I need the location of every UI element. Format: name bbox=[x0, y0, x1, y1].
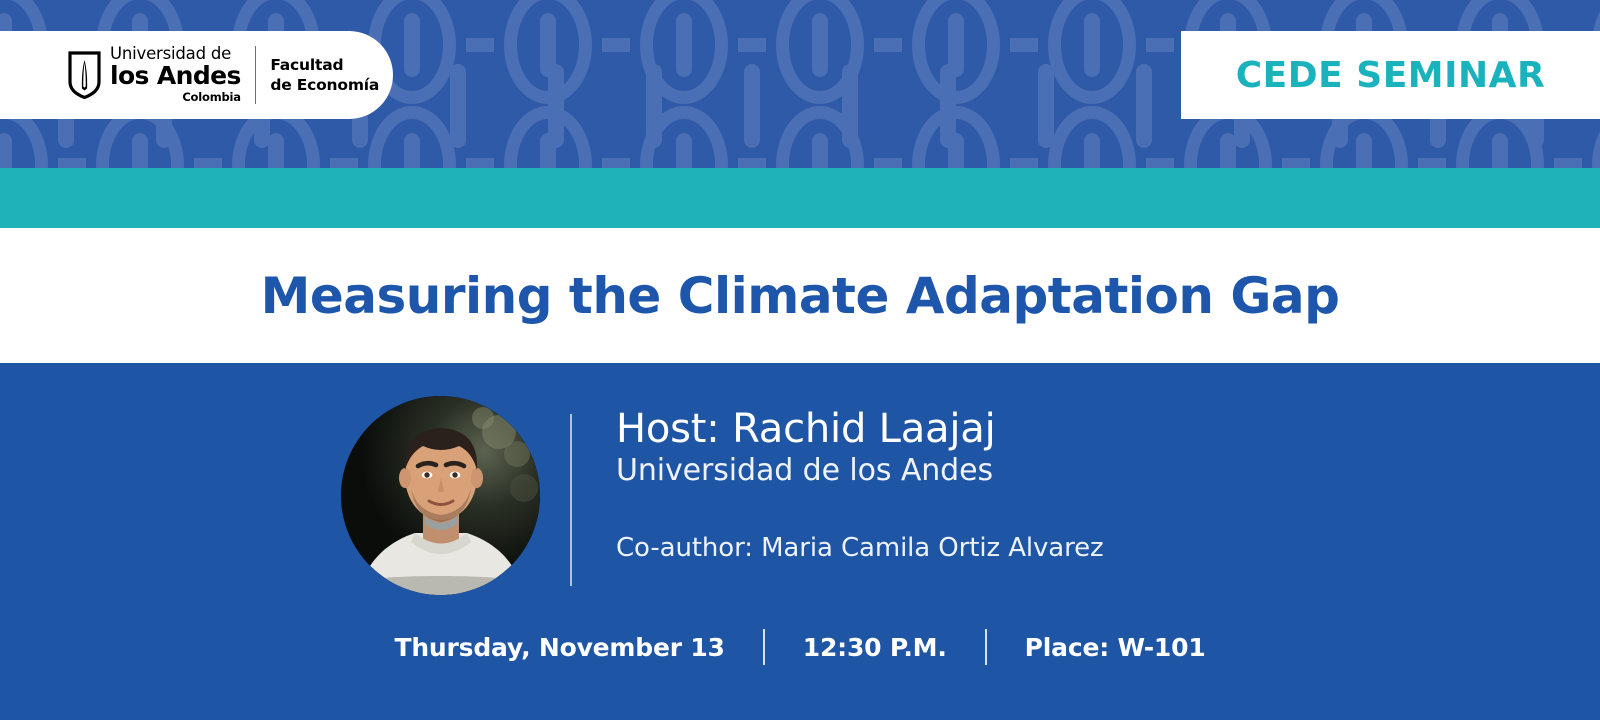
event-place: Place: W-101 bbox=[1025, 633, 1206, 662]
pattern-dash bbox=[1010, 38, 1038, 52]
pattern-dash bbox=[1010, 158, 1038, 168]
pattern-dash bbox=[1146, 38, 1174, 52]
pattern-dash bbox=[738, 158, 766, 168]
pattern-dash bbox=[330, 158, 358, 168]
cede-seminar-badge: CEDE SEMINAR bbox=[1181, 31, 1600, 119]
pattern-oval bbox=[776, 0, 864, 104]
host-vertical-divider bbox=[570, 414, 572, 586]
footer-divider-2 bbox=[985, 629, 987, 665]
pattern-dash bbox=[194, 158, 222, 168]
header-band: Universidad de los Andes Colombia Facult… bbox=[0, 0, 1600, 168]
pattern-dash bbox=[602, 158, 630, 168]
pattern-oval bbox=[504, 106, 592, 168]
faculty-name-line2: de Economía bbox=[270, 75, 379, 95]
university-name-line2: los Andes bbox=[110, 63, 241, 89]
host-name: Host: Rachid Laajaj bbox=[616, 408, 1376, 451]
pattern-dash bbox=[874, 158, 902, 168]
pattern-oval bbox=[776, 106, 864, 168]
pattern-oval bbox=[640, 106, 728, 168]
teal-accent-band bbox=[0, 168, 1600, 228]
seminar-poster: Universidad de los Andes Colombia Facult… bbox=[0, 0, 1600, 720]
university-shield-icon bbox=[68, 51, 101, 99]
pattern-oval bbox=[912, 106, 1000, 168]
faculty-name-block: Facultad de Economía bbox=[270, 55, 379, 96]
logo-inner: Universidad de los Andes Colombia Facult… bbox=[68, 46, 379, 104]
pattern-dash bbox=[1418, 158, 1446, 168]
pattern-oval bbox=[640, 0, 728, 104]
university-name-block: Universidad de los Andes Colombia bbox=[110, 46, 241, 103]
pattern-dash bbox=[58, 158, 86, 168]
pattern-dash bbox=[1554, 158, 1582, 168]
pattern-oval bbox=[368, 106, 456, 168]
speaker-portrait-photo bbox=[341, 396, 540, 595]
pattern-oval bbox=[1048, 106, 1136, 168]
footer-divider-1 bbox=[763, 629, 765, 665]
pattern-dash bbox=[1146, 158, 1174, 168]
event-details-row: Thursday, November 13 12:30 P.M. Place: … bbox=[0, 623, 1600, 671]
pattern-oval bbox=[504, 0, 592, 104]
seminar-title: Measuring the Climate Adaptation Gap bbox=[261, 267, 1340, 325]
university-logo-card: Universidad de los Andes Colombia Facult… bbox=[0, 31, 393, 119]
coauthor-name: Co-author: Maria Camila Ortiz Alvarez bbox=[616, 533, 1376, 563]
pattern-dash bbox=[466, 38, 494, 52]
university-country-label: Colombia bbox=[110, 92, 241, 104]
event-time: 12:30 P.M. bbox=[803, 633, 947, 662]
pattern-oval bbox=[912, 0, 1000, 104]
pattern-oval bbox=[1048, 0, 1136, 104]
faculty-name-line1: Facultad bbox=[270, 55, 379, 75]
logo-divider bbox=[255, 46, 257, 104]
host-affiliation: Universidad de los Andes bbox=[616, 453, 1376, 490]
event-date: Thursday, November 13 bbox=[394, 633, 724, 662]
pattern-dash bbox=[738, 38, 766, 52]
cede-seminar-label: CEDE SEMINAR bbox=[1236, 55, 1545, 96]
pattern-dash bbox=[466, 158, 494, 168]
title-band: Measuring the Climate Adaptation Gap bbox=[0, 228, 1600, 363]
pattern-dash bbox=[1282, 158, 1310, 168]
pattern-dash bbox=[602, 38, 630, 52]
pattern-dash bbox=[874, 38, 902, 52]
speaker-info-block: Host: Rachid Laajaj Universidad de los A… bbox=[616, 408, 1376, 563]
